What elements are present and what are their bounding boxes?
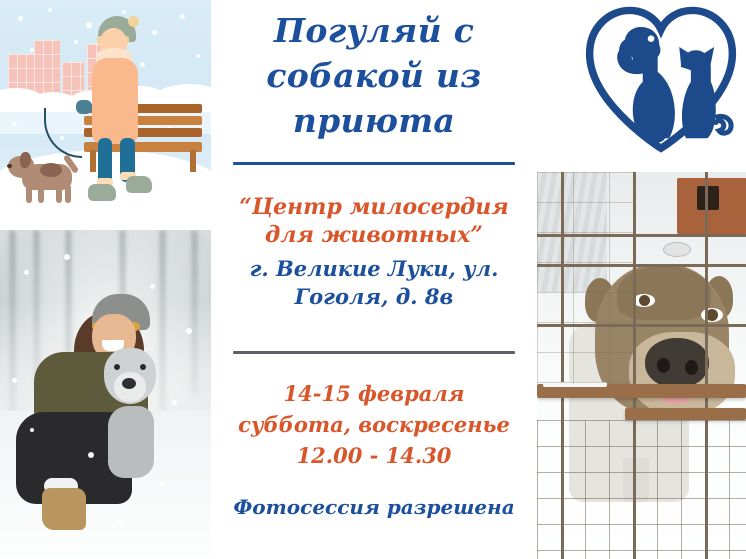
cat-silhouette: [679, 47, 716, 138]
event-schedule: 14-15 февраля суббота, воскресенье 12.00…: [213, 378, 535, 471]
snowflake: [18, 16, 23, 21]
snowflake: [160, 482, 165, 487]
dog-leg: [65, 186, 71, 203]
snowflake: [150, 284, 155, 289]
snowflake: [172, 400, 177, 405]
snowflake: [152, 30, 157, 35]
fence-mesh: [537, 172, 633, 384]
title-line-1: Погуляй с: [223, 8, 525, 53]
snowflake: [74, 40, 78, 44]
fence-rail: [625, 408, 746, 420]
dog-nose: [7, 164, 12, 168]
dog-nostril: [685, 360, 698, 375]
snowflake: [24, 270, 29, 275]
bench-leg: [190, 150, 196, 172]
poster-canvas: Погуляй с собакой из приюта “Центр милос…: [0, 0, 746, 559]
food-bowl: [663, 242, 691, 257]
schedule-dates: 14-15 февраля: [213, 378, 535, 409]
dog-nose: [645, 338, 709, 388]
person-boot: [126, 176, 152, 193]
dog-eye: [633, 294, 655, 307]
organization-address: г. Великие Луки, ул. Гоголя, д. 8в: [217, 255, 531, 311]
person-coat: [92, 58, 138, 144]
dog-patch: [40, 163, 62, 177]
schedule-time: 12.00 - 14.30: [213, 440, 535, 471]
dog-leg: [56, 186, 62, 203]
snowflake: [86, 22, 92, 28]
person-hat-pom: [128, 16, 139, 27]
dog-nostril: [657, 358, 670, 373]
snowflake: [122, 10, 126, 14]
dog-leash: [44, 108, 82, 158]
address-line-1: г. Великие Луки, ул.: [217, 255, 531, 283]
dog-leg: [38, 186, 44, 203]
small-dog-eye: [140, 364, 146, 370]
organization-name: “Центр милосердия для животных”: [217, 193, 531, 249]
dog-leg: [26, 186, 32, 203]
small-dog-eye: [114, 364, 120, 370]
fence-mesh: [537, 420, 746, 559]
snowflake: [30, 428, 34, 432]
snowflake: [64, 254, 70, 260]
person-boot: [88, 184, 116, 201]
divider-top: [233, 162, 515, 165]
bench-leg: [90, 150, 96, 172]
schedule-days: суббота, воскресенье: [213, 409, 535, 440]
photo-session-note: Фотосессия разрешена: [213, 495, 535, 519]
org-name-line-1: “Центр милосердия: [217, 193, 531, 221]
snowflake: [12, 122, 17, 127]
title-line-2: собакой из: [223, 53, 525, 98]
snowflake: [48, 8, 52, 12]
snowflake: [186, 328, 192, 334]
woman-hugging-dog-photo: [0, 230, 211, 559]
dog-pupil: [639, 295, 650, 306]
left-image-column: [0, 0, 211, 559]
page-title: Погуляй с собакой из приюта: [223, 8, 525, 143]
blurred-tree: [192, 230, 197, 395]
snowflake: [180, 14, 185, 19]
snowflake: [88, 452, 94, 458]
center-text-column: Погуляй с собакой из приюта “Центр милос…: [211, 0, 537, 559]
snowflake: [30, 48, 34, 52]
winter-dog-walk-illustration: [0, 0, 211, 227]
small-dog-body: [108, 406, 154, 478]
snowflake: [12, 378, 17, 383]
woman-boot: [42, 488, 86, 530]
small-dog-nose: [122, 378, 136, 389]
kennel-entrance: [697, 186, 719, 210]
address-line-2: Гоголя, д. 8в: [217, 283, 531, 311]
shelter-dog-behind-fence-photo: [537, 172, 746, 559]
heart-with-dog-and-cat-logo: [578, 2, 744, 160]
blurred-tree: [10, 230, 15, 420]
snowflake: [140, 62, 145, 67]
cat-tail-curl: [716, 116, 731, 133]
divider-bottom: [233, 351, 515, 354]
snowflake: [118, 520, 123, 525]
org-name-line-2: для животных”: [217, 221, 531, 249]
blurred-tree: [160, 230, 165, 415]
snowflake: [196, 54, 200, 58]
title-line-3: приюта: [223, 98, 525, 143]
